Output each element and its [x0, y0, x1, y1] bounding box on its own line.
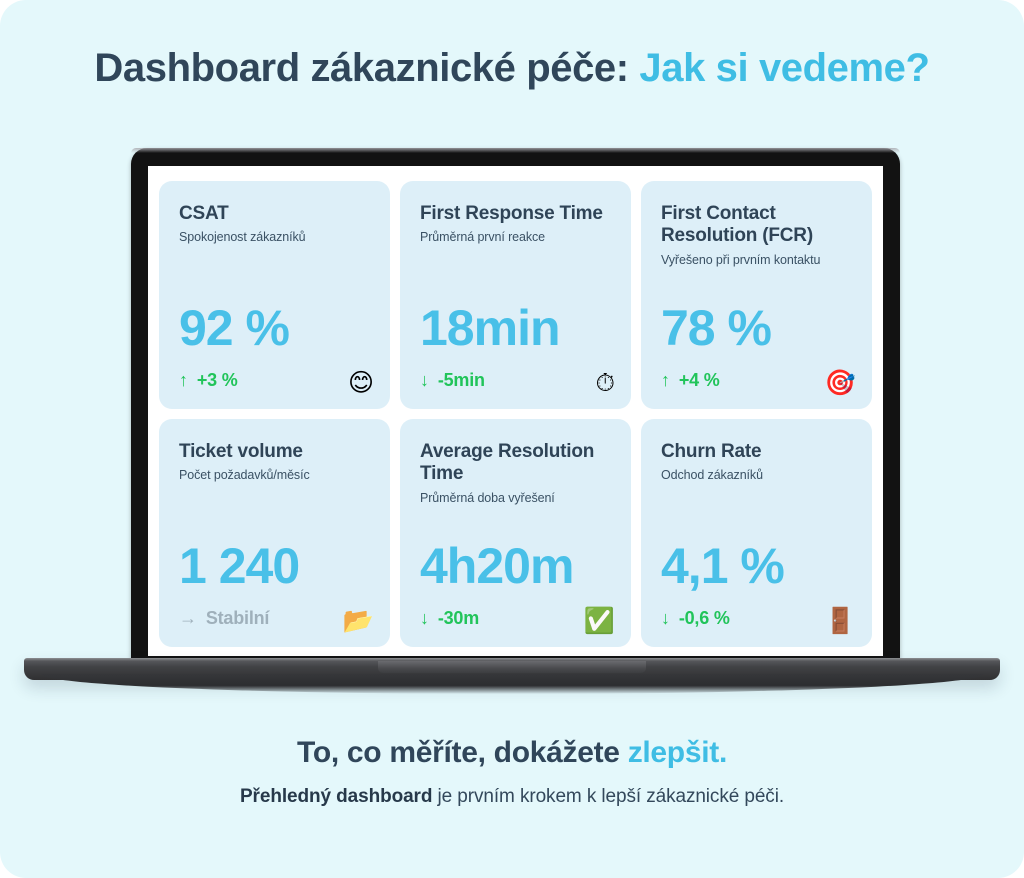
kpi-card-ticket-volume[interactable]: Ticket volume Počet požadavků/měsíc 1 24… [159, 419, 390, 647]
laptop-mockup: CSAT Spokojenost zákazníků 92 % ↑+3 % 😊 … [0, 148, 1024, 688]
footer-subline-strong: Přehledný dashboard [240, 786, 432, 807]
kpi-delta-value: +3 % [197, 370, 238, 390]
folder-icon: 📂 [343, 608, 374, 633]
laptop-lid: CSAT Spokojenost zákazníků 92 % ↑+3 % 😊 … [131, 148, 900, 663]
kpi-delta: ↓-5min [420, 370, 485, 391]
kpi-subtitle: Průměrná první reakce [420, 230, 611, 245]
kpi-card-churn-rate[interactable]: Churn Rate Odchod zákazníků 4,1 % ↓-0,6 … [641, 419, 872, 647]
arrow-up-icon: ↑ [179, 370, 188, 390]
kpi-delta-value: -30m [438, 608, 479, 628]
laptop-base-notch [378, 661, 646, 673]
kpi-value: 1 240 [179, 541, 299, 591]
kpi-value: 4,1 % [661, 541, 784, 591]
footer: To, co měříte, dokážete zlepšit. Přehled… [0, 736, 1024, 808]
kpi-subtitle: Spokojenost zákazníků [179, 230, 370, 245]
kpi-title: Ticket volume [179, 441, 370, 463]
check-mark-icon: ✅ [584, 608, 615, 633]
target-icon: 🎯 [825, 370, 856, 395]
kpi-subtitle: Odchod zákazníků [661, 468, 852, 483]
kpi-title: Average Resolution Time [420, 441, 611, 486]
kpi-value: 78 % [661, 303, 771, 353]
kpi-grid: CSAT Spokojenost zákazníků 92 % ↑+3 % 😊 … [159, 181, 872, 647]
page-title-accent: Jak si vedeme? [639, 46, 929, 90]
kpi-delta: ↓-0,6 % [661, 608, 730, 629]
smiling-face-icon: 😊 [348, 370, 374, 395]
kpi-subtitle: Vyřešeno při prvním kontaktu [661, 253, 852, 268]
footer-tagline-accent: zlepšit. [628, 736, 727, 769]
kpi-title: CSAT [179, 203, 370, 225]
kpi-subtitle: Průměrná doba vyřešení [420, 491, 611, 506]
kpi-delta: ↑+3 % [179, 370, 238, 391]
arrow-down-icon: ↓ [661, 608, 670, 628]
kpi-card-first-contact-resolution[interactable]: First Contact Resolution (FCR) Vyřešeno … [641, 181, 872, 409]
page-title-main: Dashboard zákaznické péče: [94, 46, 628, 90]
door-icon: 🚪 [825, 608, 856, 633]
arrow-down-icon: ↓ [420, 608, 429, 628]
kpi-subtitle: Počet požadavků/měsíc [179, 468, 370, 483]
footer-subline: Přehledný dashboard je prvním krokem k l… [0, 786, 1024, 808]
kpi-delta-value: Stabilní [206, 608, 269, 628]
kpi-title: First Response Time [420, 203, 611, 225]
kpi-delta: ↓-30m [420, 608, 479, 629]
arrow-down-icon: ↓ [420, 370, 429, 390]
footer-tagline: To, co měříte, dokážete zlepšit. [0, 736, 1024, 770]
stopwatch-icon: ⏱ [595, 370, 615, 395]
footer-subline-rest: je prvním krokem k lepší zákaznické péči… [432, 786, 784, 807]
kpi-title: Churn Rate [661, 441, 852, 463]
kpi-card-first-response-time[interactable]: First Response Time Průměrná první reakc… [400, 181, 631, 409]
laptop-base [24, 658, 1000, 680]
kpi-value: 4h20m [420, 541, 573, 591]
kpi-card-csat[interactable]: CSAT Spokojenost zákazníků 92 % ↑+3 % 😊 [159, 181, 390, 409]
page-title: Dashboard zákaznické péče: Jak si vedeme… [0, 44, 1024, 92]
footer-tagline-main: To, co měříte, dokážete [297, 736, 628, 769]
kpi-value: 18min [420, 303, 560, 353]
kpi-delta: ↑+4 % [661, 370, 720, 391]
kpi-delta-value: -5min [438, 370, 485, 390]
poster-canvas: Dashboard zákaznické péče: Jak si vedeme… [0, 0, 1024, 878]
kpi-delta-value: +4 % [679, 370, 720, 390]
kpi-delta-value: -0,6 % [679, 608, 730, 628]
arrow-up-icon: ↑ [661, 370, 670, 390]
kpi-card-average-resolution-time[interactable]: Average Resolution Time Průměrná doba vy… [400, 419, 631, 647]
kpi-value: 92 % [179, 303, 289, 353]
kpi-title: First Contact Resolution (FCR) [661, 203, 852, 248]
laptop-screen: CSAT Spokojenost zákazníků 92 % ↑+3 % 😊 … [148, 166, 883, 656]
kpi-delta: →Stabilní [179, 608, 269, 629]
arrow-right-icon: → [179, 608, 197, 628]
